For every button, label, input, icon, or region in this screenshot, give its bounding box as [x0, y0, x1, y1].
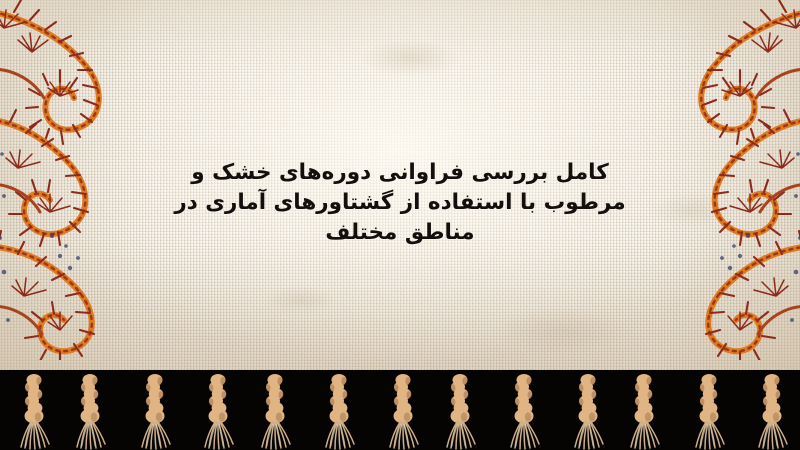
tassel — [624, 372, 668, 450]
tassel — [70, 372, 114, 450]
tassel — [316, 372, 360, 450]
tassel — [193, 372, 237, 450]
slide-canvas: کامل بررسی فراوانی دوره‌های خشک و مرطوب … — [0, 0, 800, 450]
tassel — [378, 372, 422, 450]
fringe-band — [0, 370, 800, 450]
title-line-1: کامل بررسی فراوانی دوره‌های خشک و — [150, 158, 650, 188]
title-line-2: مرطوب با استفاده از گشتاورهای آماری در — [150, 188, 650, 218]
title-line-3: مناطق مختلف — [150, 218, 650, 248]
tassel — [9, 372, 53, 450]
tassel — [686, 372, 730, 450]
tassel — [440, 372, 484, 450]
tassel — [501, 372, 545, 450]
tassel — [747, 372, 791, 450]
tassel — [132, 372, 176, 450]
tassel — [255, 372, 299, 450]
tassel — [563, 372, 607, 450]
page-title: کامل بررسی فراوانی دوره‌های خشک و مرطوب … — [0, 158, 800, 248]
